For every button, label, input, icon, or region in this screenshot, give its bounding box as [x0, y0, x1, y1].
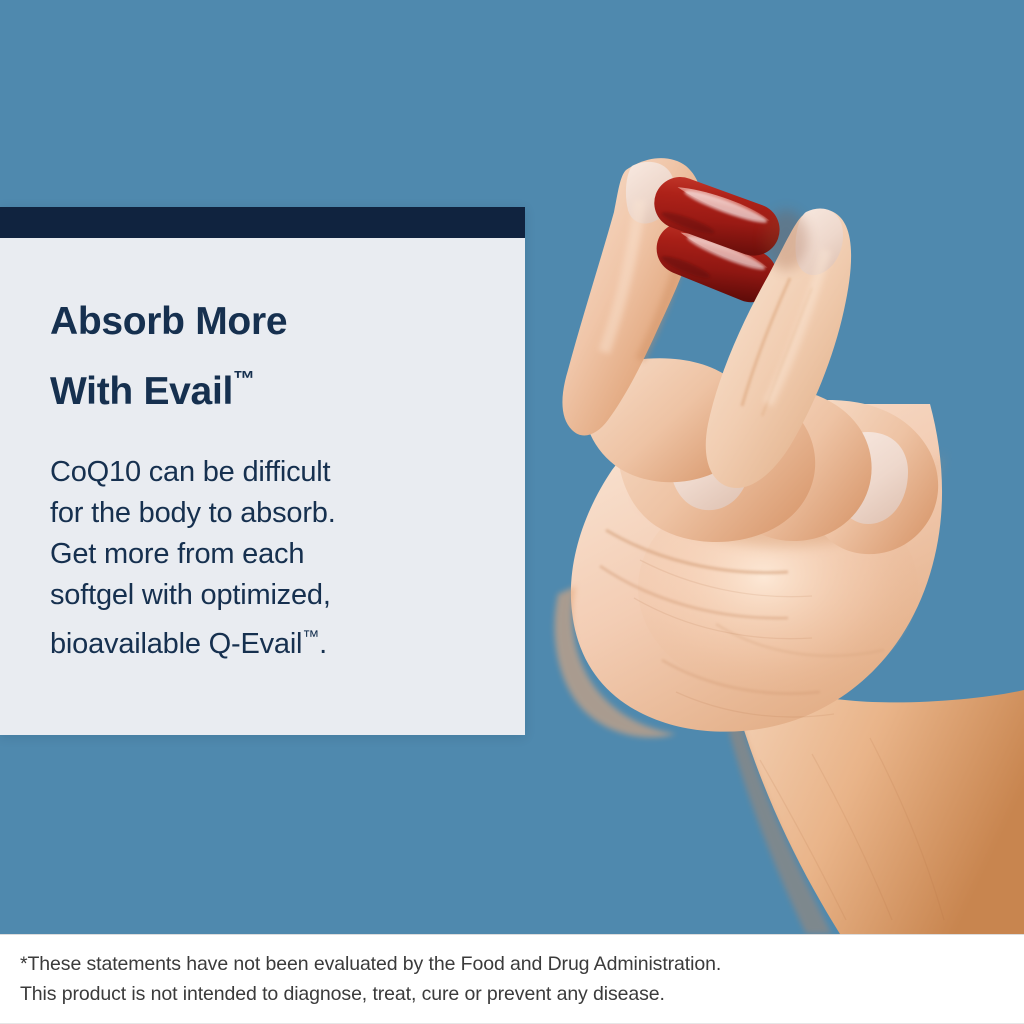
card-heading-text: Absorb More With Evail — [50, 300, 287, 413]
product-infographic: Absorb More With Evail™ CoQ10 can be dif… — [0, 0, 1024, 1024]
trademark-symbol-paragraph: ™ — [302, 627, 319, 646]
card-body: Absorb More With Evail™ CoQ10 can be dif… — [0, 238, 525, 735]
card-paragraph: CoQ10 can be difficult for the body to a… — [50, 452, 485, 665]
capsule-contact-shadow — [764, 210, 808, 270]
card-paragraph-text: CoQ10 can be difficult for the body to a… — [50, 456, 336, 660]
card-accent-bar — [0, 207, 525, 238]
info-card: Absorb More With Evail™ CoQ10 can be dif… — [0, 207, 525, 735]
disclaimer-text: *These statements have not been evaluate… — [20, 949, 1024, 1009]
card-heading: Absorb More With Evail™ — [50, 293, 485, 420]
disclaimer-bar: *These statements have not been evaluate… — [0, 934, 1024, 1024]
trademark-symbol-heading: ™ — [233, 366, 255, 391]
card-paragraph-tail: . — [319, 628, 327, 660]
